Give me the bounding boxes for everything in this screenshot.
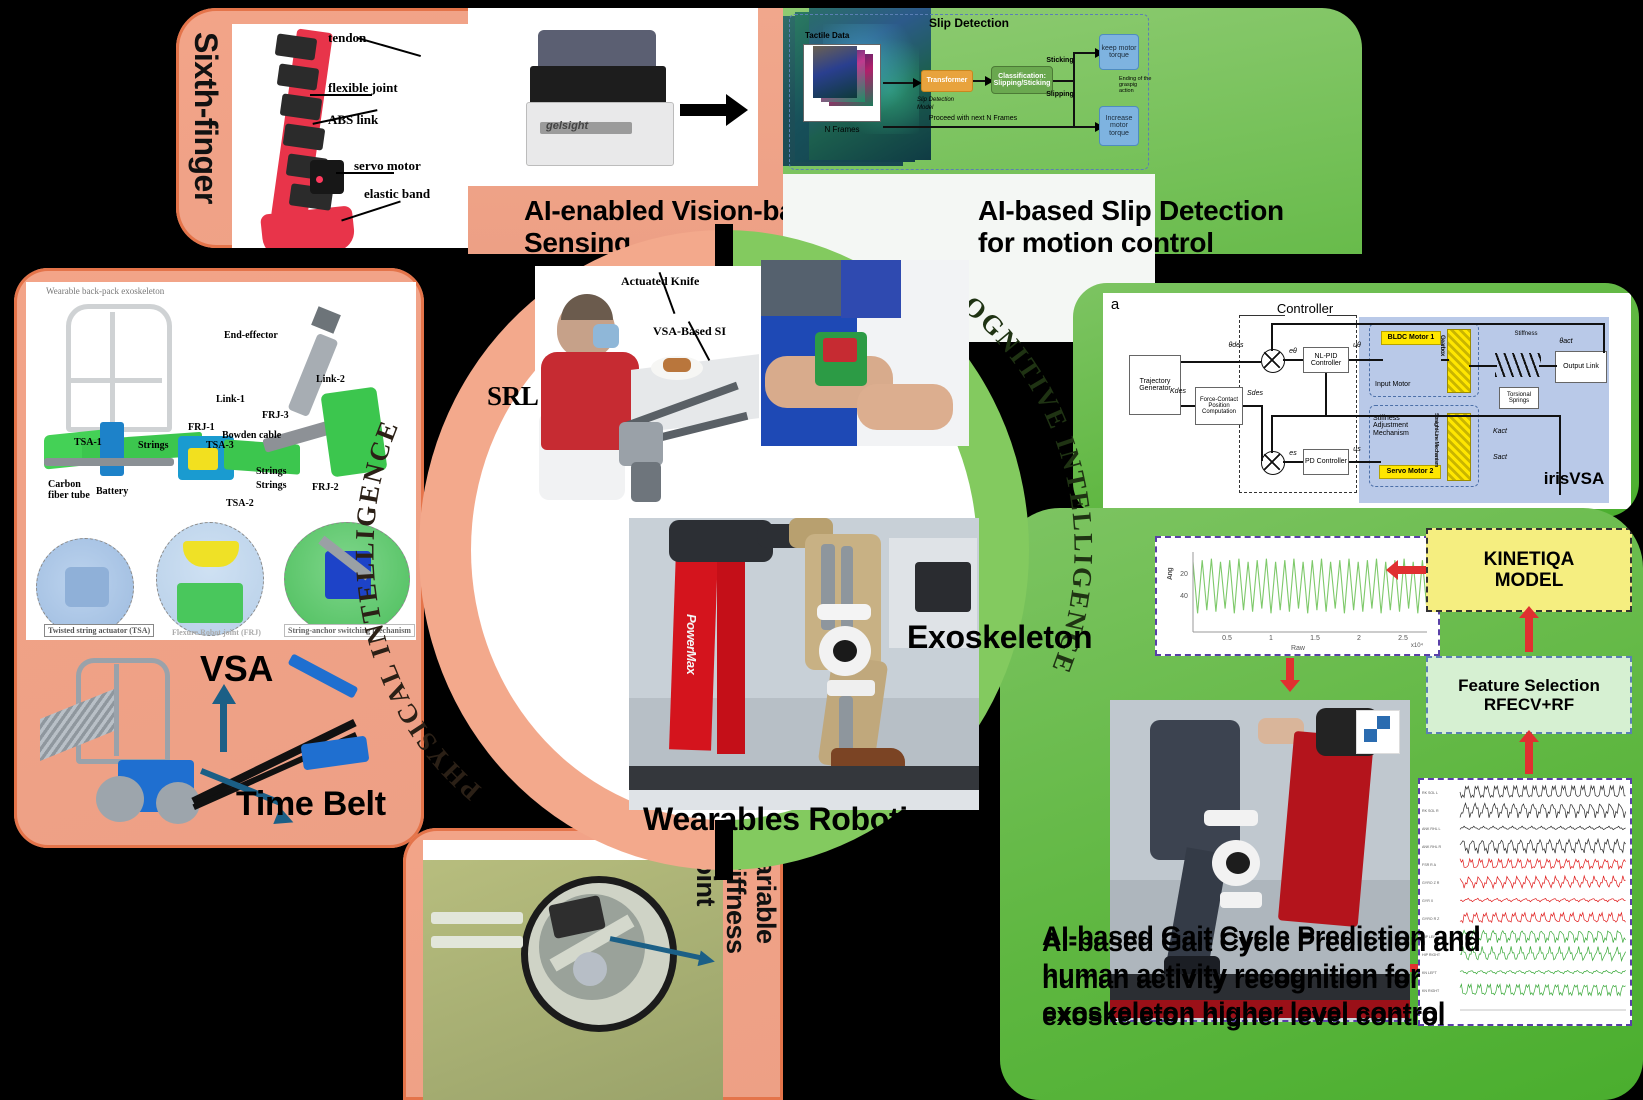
sig-s-des: Sdes: [1243, 389, 1267, 399]
gait-chart-exponent: x10⁴: [1405, 642, 1429, 651]
feature-line1: Feature Selection: [1458, 676, 1600, 695]
slip-branch-sticking: Sticking: [1039, 56, 1081, 66]
slip-keep-torque: keep motor torque: [1099, 34, 1139, 70]
slip-feedback-label: Proceed with next N Frames: [893, 114, 1053, 124]
svg-text:ANK RHL R: ANK RHL R: [1422, 845, 1441, 849]
sig-k-des: Kdes: [1165, 387, 1191, 397]
slip-increase-torque: Increase motor torque: [1099, 106, 1139, 146]
annot-frj3: FRJ-3: [262, 410, 289, 421]
exo-treadmill-photo: PowerMax: [629, 518, 979, 810]
gait-xtick-3: 2: [1349, 634, 1369, 643]
vsa-label: VSA: [200, 650, 273, 689]
svg-text:FSR R A: FSR R A: [1422, 863, 1437, 867]
arrow-signals-to-feature: [1525, 740, 1533, 774]
slip-diagram-title: Slip Detection: [869, 16, 1069, 30]
sig-theta-act: θact: [1555, 337, 1577, 347]
wrist-exo-photo: [761, 260, 969, 446]
annot-flexible-joint: flexible joint: [328, 80, 398, 96]
label-exoskeleton: Exoskeleton: [907, 620, 1092, 655]
irisvsa-pd: PD Controller: [1303, 449, 1349, 475]
gait-ytick-0: 20: [1177, 570, 1191, 579]
gait-xtick-1: 1: [1261, 634, 1281, 643]
kinetiqa-line1: KINETIQA: [1484, 549, 1575, 570]
irisvsa-servo: Servo Motor 2: [1379, 465, 1441, 479]
gait-chart-xlabel: Raw: [1283, 644, 1313, 653]
arrowhead-chart-to-kinetiqa: [1386, 560, 1398, 580]
gait-caption-overlay-3: exoskeleton higher level control: [1042, 998, 1445, 1027]
annot-tsa3: TSA-3: [206, 440, 234, 451]
irisvsa-output-link: Output Link: [1555, 351, 1607, 383]
arrow-feature-to-kinetiqa: [1525, 616, 1533, 652]
arrowhead-signals-to-feature: [1519, 730, 1539, 742]
inset-label-anchor: String-anchor switching mechanism: [284, 624, 415, 637]
kinetiqa-model-box: KINETIQA MODEL: [1426, 528, 1632, 612]
svg-text:KN LEFT: KN LEFT: [1422, 971, 1438, 975]
annot-frj1: FRJ-1: [188, 422, 215, 433]
irisvsa-name: irisVSA: [1539, 469, 1609, 489]
label-srl: SRL: [487, 382, 539, 411]
annot-strings-3: Strings: [256, 480, 287, 491]
sig-s-act: Sact: [1489, 453, 1511, 463]
sig-e-theta: eθ: [1285, 347, 1301, 357]
gelsight-device-photo: gelsight: [468, 8, 758, 186]
sixth-finger-side-label: Sixth-finger: [187, 32, 224, 204]
annot-end-effector: End-effector: [224, 330, 278, 341]
annot-abs-link: ABS link: [328, 112, 378, 128]
sixth-finger-photo: tendon flexible joint ABS link servo mot…: [232, 24, 482, 248]
arrowhead-chart-to-photo: [1280, 680, 1300, 692]
gait-xtick-0: 0.5: [1217, 634, 1237, 643]
gait-caption-overlay-1: AI-based Gait Cycle Prediction and: [1042, 922, 1480, 951]
slip-transformer-block: Transformer: [921, 70, 973, 92]
sig-e-s: es: [1285, 449, 1301, 459]
panel-slip-detection: Slip Detection Tactile Data N Frames Tra…: [783, 8, 1362, 254]
inset-label-tsa: Twisted string actuator (TSA): [44, 624, 154, 637]
sig-theta-des: θdes: [1223, 341, 1249, 351]
slip-ending-note: Ending of the graspig action: [1119, 68, 1153, 104]
gelsight-brand: gelsight: [546, 120, 588, 132]
slip-classification-line2: Slipping/Sticking: [994, 80, 1051, 87]
annot-servo-motor: servo motor: [354, 158, 421, 174]
kinetiqa-line2: MODEL: [1495, 570, 1564, 591]
slip-branch-slipping: Slipping: [1039, 90, 1081, 100]
annot-strings: Strings: [138, 440, 169, 451]
treadmill-brand-label: PowerMax: [684, 614, 699, 674]
annot-link2: Link-2: [316, 374, 345, 385]
gait-signal-plot: RK SOL LRK SOL RANK RHL LANK RHL RFSR R …: [1418, 778, 1632, 1026]
gait-ytick-1: 40: [1177, 592, 1191, 601]
irisvsa-nlpid: NL-PID Controller: [1303, 347, 1349, 373]
irisvsa-torsional-springs: Torsional Springs: [1499, 387, 1539, 409]
srl-feeding-photo: Actuated Knife VSA-Based SI: [535, 266, 763, 502]
slip-caption-line1: AI-based Slip Detection: [978, 196, 1284, 226]
slip-frames-label: N Frames: [801, 124, 883, 136]
annot-tsa1: TSA-1: [74, 437, 102, 448]
slip-classification-line1: Classification:: [998, 73, 1046, 80]
irisvsa-tag: a: [1107, 297, 1123, 313]
sig-u-theta: uθ: [1349, 341, 1365, 351]
irisvsa-stiffness-label: Stiffness: [1503, 329, 1549, 339]
annot-strings-2: Strings: [256, 466, 287, 477]
irisvsa-bldc: BLDC Motor 1: [1381, 331, 1441, 345]
gait-caption-overlay-2: human activity recognition for: [1042, 960, 1420, 989]
annot-elastic-band: elastic band: [364, 186, 430, 202]
time-belt-label: Time Belt: [236, 786, 386, 823]
annot-battery: Battery: [96, 486, 128, 497]
irisvsa-straight-line: Straight-Line Mechanism: [1433, 413, 1439, 467]
exo-cad-title: Wearable back-pack exoskeleton: [46, 286, 164, 296]
annot-tendon: tendon: [328, 30, 366, 46]
annot-tsa2: TSA-2: [226, 498, 254, 509]
svg-text:ANK RHL L: ANK RHL L: [1422, 827, 1440, 831]
gait-signals-svg: RK SOL LRK SOL RANK RHL LANK RHL RFSR R …: [1418, 778, 1632, 1026]
annot-carbon-tube: Carbon fiber tube: [48, 480, 94, 501]
leader-tendon: [357, 37, 421, 57]
gait-angle-chart: Ang 20 40 0.5 1 1.5 2 2.5 Raw x10⁴: [1155, 536, 1440, 656]
feature-selection-box: Feature Selection RFECV+RF: [1426, 656, 1632, 734]
irisvsa-trajectory-generator: Trajectory Generator: [1129, 355, 1181, 415]
annot-bowden-cable: Bowden cable: [222, 430, 281, 441]
panel-irisvsa: a Controller Trajectory Generator Force-…: [1073, 283, 1639, 517]
svg-text:GYRO Z R: GYRO Z R: [1422, 881, 1440, 885]
irisvsa-diagram: a Controller Trajectory Generator Force-…: [1103, 293, 1631, 509]
svg-text:RK SOL R: RK SOL R: [1422, 809, 1439, 813]
svg-text:RK SOL L: RK SOL L: [1422, 791, 1438, 795]
feature-line2: RFECV+RF: [1484, 695, 1574, 714]
arrowhead-feature-to-kinetiqa: [1519, 606, 1539, 618]
irisvsa-input-motor: Input Motor: [1375, 379, 1429, 391]
arrow-chart-to-kinetiqa: [1396, 566, 1426, 574]
slip-transformer-sub2: Model: [917, 104, 977, 113]
gait-chart-ylabel: Ang: [1167, 568, 1174, 580]
annot-link1: Link-1: [216, 394, 245, 405]
slip-tactile-data-label: Tactile Data: [805, 30, 895, 42]
sig-u-s: us: [1349, 445, 1365, 455]
central-wheel: PHYSICAL INTELLIGENCE COGNITIVE INTELLIG…: [419, 230, 1029, 870]
figure-canvas: tendon flexible joint ABS link servo mot…: [0, 0, 1643, 1100]
panel-tactile-sensing: gelsight AI-enabled Vision-based Tactile…: [468, 8, 783, 254]
svg-text:KN RIGHT: KN RIGHT: [1422, 989, 1440, 993]
inset-label-frj: Flexure Robot joint (FRJ): [172, 628, 261, 637]
irisvsa-controller-title: Controller: [1255, 301, 1355, 317]
gait-xtick-2: 1.5: [1305, 634, 1325, 643]
irisvsa-gearbox: Gearbox: [1439, 335, 1445, 356]
vsj-photo: [423, 840, 723, 1100]
svg-text:GYR X: GYR X: [1422, 899, 1434, 903]
label-wearables-robotics: Wearables Robotics: [643, 802, 943, 837]
sig-k-act: Kact: [1489, 427, 1511, 437]
irisvsa-force-contact: Force-Contact Position Computation: [1195, 387, 1243, 425]
annot-frj2: FRJ-2: [312, 482, 339, 493]
